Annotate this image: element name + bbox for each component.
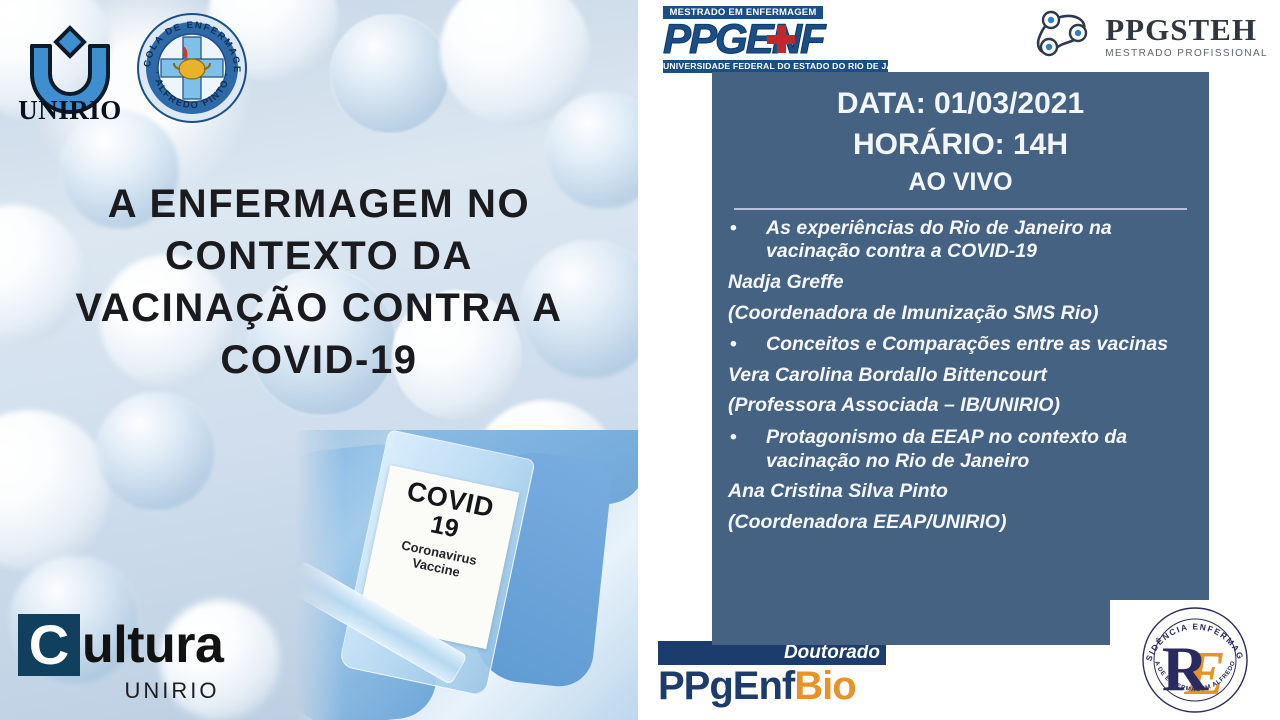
ppgenf-acronym: PPGENF: [663, 15, 824, 62]
agenda-person: Ana Cristina Silva Pinto: [728, 480, 1193, 504]
bubble-decoration: [96, 392, 216, 512]
agenda-role: (Professora Associada – IB/UNIRIO): [728, 394, 1193, 418]
page-title: A ENFERMAGEM NO CONTEXTO DA VACINAÇÃO CO…: [24, 178, 614, 386]
bullet-icon: •: [730, 426, 737, 450]
agenda-topic-text: As experiências do Rio de Janeiro na vac…: [766, 217, 1112, 263]
right-content-panel: MESTRADO EM ENFERMAGEM PPGENF UNIVERSIDA…: [638, 0, 1280, 720]
bubble-decoration: [0, 410, 110, 570]
bubble-decoration: [330, 14, 450, 134]
agenda-topic: •Protagonismo da EEAP no contexto da vac…: [728, 426, 1193, 473]
bullet-icon: •: [730, 217, 737, 241]
ppgenfbio-logo: Doutorado PPgEnfBio: [658, 641, 886, 706]
ppgsteh-text-block: PPGSTEH MESTRADO PROFISSIONAL: [1105, 14, 1268, 59]
ppgenfbio-part2: Bio: [794, 664, 855, 708]
cultura-word: ultura: [82, 615, 223, 675]
ppgenf-acronym-row: PPGENF: [663, 19, 888, 59]
re-monogram-r: R: [1162, 633, 1209, 704]
ppgsteh-name: PPGSTEH: [1105, 14, 1268, 45]
title-line-4: COVID-19: [24, 334, 614, 386]
agenda-person: Nadja Greffe: [728, 271, 1193, 295]
divider: [734, 208, 1187, 210]
cultura-wordmark-row: C ultura: [18, 614, 223, 676]
bubble-decoration: [440, 0, 590, 126]
poster-canvas: UNIRIO E: [0, 0, 1280, 720]
eeap-seal-icon: ESCOLA DE ENFERMAGEM · ALFREDO PINTO ·: [136, 12, 248, 124]
residency-seal-container: E R · RESIDÊNCIA ENFERMAGEM · ESCOLA DE …: [1110, 600, 1280, 720]
left-photo-panel: UNIRIO E: [0, 0, 638, 720]
agenda-topic-text: Conceitos e Comparações entre as vacinas: [766, 333, 1168, 355]
ppgenfbio-part1: PPgEnf: [658, 664, 794, 708]
bullet-icon: •: [730, 333, 737, 357]
agenda-role: (Coordenadora EEAP/UNIRIO): [728, 511, 1193, 535]
event-live-badge: AO VIVO: [728, 166, 1193, 200]
molecule-network-icon: [1033, 8, 1095, 65]
event-info-panel: DATA: 01/03/2021 HORÁRIO: 14H AO VIVO •A…: [712, 72, 1209, 645]
unirio-wordmark: UNIRIO: [18, 95, 122, 125]
agenda-role: (Coordenadora de Imunização SMS Rio): [728, 302, 1193, 326]
event-time: HORÁRIO: 14H: [728, 123, 1193, 167]
unirio-logo: UNIRIO: [14, 16, 126, 126]
title-line-3: VACINAÇÃO CONTRA A: [24, 282, 614, 334]
ppgenfbio-tag: Doutorado: [784, 642, 880, 664]
residencia-enfermagem-seal-icon: E R · RESIDÊNCIA ENFERMAGEM · ESCOLA DE …: [1141, 606, 1249, 714]
cultura-subtitle: UNIRIO: [124, 678, 219, 704]
medical-cross-icon: [767, 25, 795, 53]
ppgsteh-logo: PPGSTEH MESTRADO PROFISSIONAL: [1033, 8, 1268, 65]
vaccine-photo: COVID 19 Coronavirus Vaccine: [296, 430, 638, 720]
ppgsteh-subtitle: MESTRADO PROFISSIONAL: [1105, 48, 1268, 59]
agenda-person: Vera Carolina Bordallo Bittencourt: [728, 364, 1193, 388]
agenda-list: •As experiências do Rio de Janeiro na va…: [728, 217, 1193, 535]
ppgenfbio-wordmark: PPgEnfBio: [658, 666, 886, 706]
agenda-topic: •As experiências do Rio de Janeiro na va…: [728, 217, 1193, 264]
agenda-topic: •Conceitos e Comparações entre as vacina…: [728, 333, 1193, 357]
title-line-1: A ENFERMAGEM NO: [24, 178, 614, 230]
cultura-unirio-logo: C ultura UNIRIO: [18, 614, 223, 704]
title-line-2: CONTEXTO DA: [24, 230, 614, 282]
event-date: DATA: 01/03/2021: [728, 86, 1193, 123]
cultura-initial: C: [18, 614, 80, 676]
ppgenf-logo: MESTRADO EM ENFERMAGEM PPGENF UNIVERSIDA…: [663, 6, 888, 73]
agenda-topic-text: Protagonismo da EEAP no contexto da vaci…: [766, 426, 1127, 472]
